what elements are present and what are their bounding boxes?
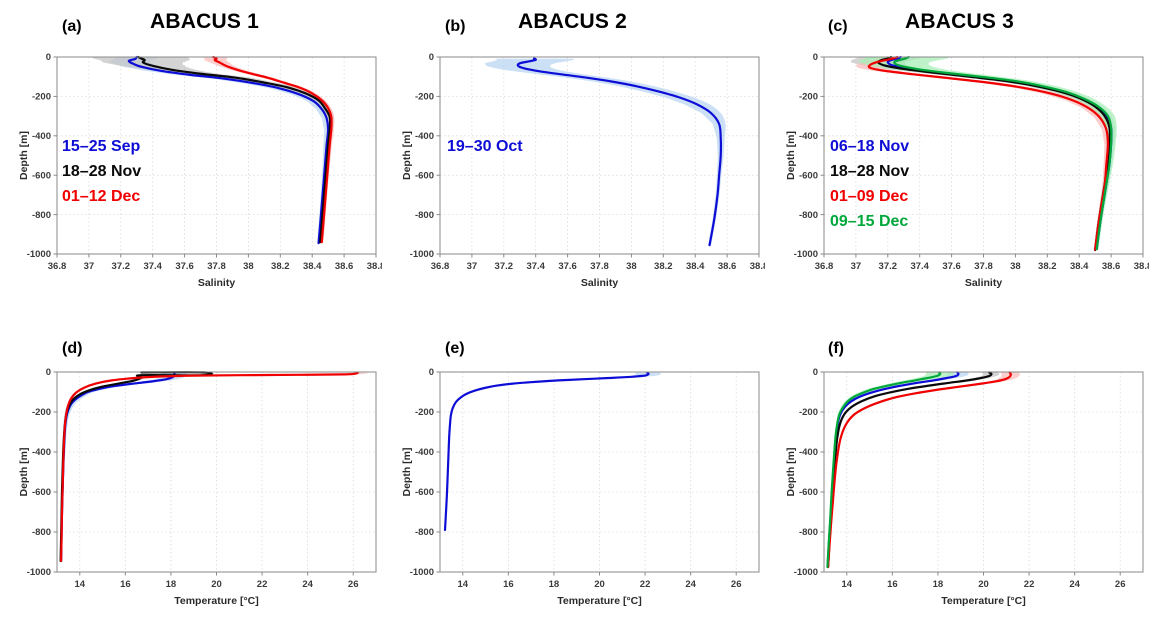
svg-text:36.8: 36.8 — [48, 261, 67, 272]
svg-text:20: 20 — [211, 579, 222, 590]
svg-text:38.4: 38.4 — [686, 261, 705, 272]
profile-lines — [827, 372, 1010, 567]
band-panel-f-2 — [828, 372, 1020, 567]
grid-lines — [440, 372, 759, 572]
x-axis: 36.83737.237.437.637.83838.238.438.638.8… — [815, 254, 1149, 289]
band-panel-e-0 — [445, 373, 662, 530]
svg-text:38.8: 38.8 — [750, 261, 765, 272]
svg-text:18: 18 — [933, 579, 944, 590]
band-panel-d-2 — [61, 373, 368, 561]
x-axis: 36.83737.237.437.637.83838.238.438.638.8… — [48, 254, 382, 289]
svg-text:-600: -600 — [799, 170, 818, 181]
panel-c-legend: 06–18 Nov18–28 Nov01–09 Dec09–15 Dec — [830, 134, 909, 234]
panel-b-tag: (b) — [445, 18, 465, 36]
svg-text:37.6: 37.6 — [175, 261, 194, 272]
legend-item: 18–28 Nov — [62, 159, 141, 184]
svg-text:37: 37 — [467, 261, 478, 272]
y-axis: 0-200-400-600-800-1000Depth [m] — [785, 367, 824, 578]
svg-text:-1000: -1000 — [27, 567, 51, 578]
x-axis: 14161820222426Temperature [°C] — [457, 572, 741, 607]
legend-item: 15–25 Sep — [62, 134, 141, 159]
panel-d: 14161820222426Temperature [°C]0-200-400-… — [17, 366, 382, 616]
y-axis-title: Depth [m] — [401, 448, 413, 497]
profile-panel-f-2 — [828, 372, 1011, 567]
profile-panel-d-1 — [61, 372, 212, 561]
svg-text:38: 38 — [626, 261, 637, 272]
svg-text:37: 37 — [84, 261, 95, 272]
panel-b: 36.83737.237.437.637.83838.238.438.638.8… — [400, 51, 765, 298]
svg-text:38: 38 — [243, 261, 254, 272]
legend-item: 18–28 Nov — [830, 159, 909, 184]
svg-text:-1000: -1000 — [27, 249, 51, 260]
profile-panel-c-0 — [888, 57, 1112, 249]
x-axis-title: Temperature [°C] — [174, 595, 259, 607]
svg-text:20: 20 — [978, 579, 989, 590]
svg-text:36.8: 36.8 — [815, 261, 834, 272]
y-axis-title: Depth [m] — [18, 131, 30, 180]
svg-text:26: 26 — [1115, 579, 1126, 590]
y-axis: 0-200-400-600-800-1000Depth [m] — [785, 52, 824, 260]
grid-lines — [57, 372, 376, 572]
x-axis-title: Temperature [°C] — [557, 595, 642, 607]
y-axis: 0-200-400-600-800-1000Depth [m] — [401, 367, 440, 578]
svg-text:-400: -400 — [32, 447, 51, 458]
svg-text:38.2: 38.2 — [271, 261, 290, 272]
panel-a-legend: 15–25 Sep18–28 Nov01–12 Dec — [62, 134, 141, 209]
uncertainty-bands — [445, 373, 662, 530]
svg-text:-600: -600 — [415, 170, 434, 181]
svg-text:37: 37 — [851, 261, 862, 272]
y-axis-title: Depth [m] — [785, 448, 797, 497]
panel-e: 14161820222426Temperature [°C]0-200-400-… — [400, 366, 765, 616]
panel-a-title: ABACUS 1 — [150, 10, 259, 34]
panel-f: 14161820222426Temperature [°C]0-200-400-… — [784, 366, 1149, 616]
svg-text:14: 14 — [74, 579, 85, 590]
svg-text:0: 0 — [813, 367, 818, 378]
grid-lines — [824, 372, 1143, 572]
panel-b-title: ABACUS 2 — [518, 10, 627, 34]
svg-text:-800: -800 — [799, 210, 818, 221]
svg-text:24: 24 — [1069, 579, 1080, 590]
svg-text:0: 0 — [813, 52, 818, 63]
svg-text:16: 16 — [120, 579, 131, 590]
x-axis-title: Salinity — [581, 277, 619, 289]
svg-text:37.8: 37.8 — [207, 261, 226, 272]
svg-text:-200: -200 — [415, 92, 434, 103]
svg-text:-600: -600 — [32, 487, 51, 498]
svg-text:16: 16 — [887, 579, 898, 590]
y-axis: 0-200-400-600-800-1000Depth [m] — [18, 52, 57, 260]
uncertainty-bands — [60, 372, 368, 561]
svg-text:38.6: 38.6 — [1102, 261, 1121, 272]
svg-text:36.8: 36.8 — [431, 261, 450, 272]
band-panel-a-0 — [108, 57, 332, 243]
y-axis-title: Depth [m] — [18, 448, 30, 497]
svg-text:38.4: 38.4 — [1070, 261, 1089, 272]
legend-item: 06–18 Nov — [830, 134, 909, 159]
svg-text:16: 16 — [503, 579, 514, 590]
svg-text:37.4: 37.4 — [910, 261, 929, 272]
svg-text:-1000: -1000 — [794, 567, 818, 578]
svg-text:-400: -400 — [799, 447, 818, 458]
svg-text:37.8: 37.8 — [974, 261, 993, 272]
panel-c-title: ABACUS 3 — [905, 10, 1014, 34]
profile-lines — [61, 372, 358, 561]
x-axis: 36.83737.237.437.637.83838.238.438.638.8… — [431, 254, 765, 289]
band-panel-d-1 — [60, 372, 214, 561]
profile-lines — [445, 373, 649, 530]
svg-text:-800: -800 — [32, 210, 51, 221]
svg-text:37.8: 37.8 — [590, 261, 609, 272]
svg-text:22: 22 — [640, 579, 651, 590]
svg-text:-400: -400 — [415, 447, 434, 458]
profile-panel-b-0 — [518, 59, 721, 246]
svg-text:38: 38 — [1010, 261, 1021, 272]
panel-b-legend: 19–30 Oct — [447, 134, 523, 159]
svg-text:-200: -200 — [799, 407, 818, 418]
profile-panel-c-1 — [878, 57, 1110, 250]
legend-item: 01–12 Dec — [62, 184, 141, 209]
svg-text:0: 0 — [46, 52, 51, 63]
svg-text:37.4: 37.4 — [526, 261, 545, 272]
svg-text:14: 14 — [841, 579, 852, 590]
svg-text:0: 0 — [429, 367, 434, 378]
y-axis-title: Depth [m] — [401, 131, 413, 180]
profile-lines — [518, 59, 721, 246]
svg-text:22: 22 — [257, 579, 268, 590]
svg-text:18: 18 — [549, 579, 560, 590]
svg-text:38.6: 38.6 — [718, 261, 737, 272]
profile-panel-a-0 — [129, 57, 328, 243]
svg-text:24: 24 — [302, 579, 313, 590]
x-axis-title: Temperature [°C] — [941, 595, 1026, 607]
y-axis: 0-200-400-600-800-1000Depth [m] — [18, 367, 57, 578]
x-axis-title: Salinity — [198, 277, 236, 289]
svg-text:-1000: -1000 — [410, 567, 434, 578]
svg-text:37.4: 37.4 — [143, 261, 162, 272]
svg-text:-600: -600 — [32, 170, 51, 181]
svg-text:37.2: 37.2 — [879, 261, 898, 272]
svg-text:-400: -400 — [32, 131, 51, 142]
svg-text:26: 26 — [731, 579, 742, 590]
svg-text:-800: -800 — [799, 527, 818, 538]
svg-text:37.2: 37.2 — [112, 261, 131, 272]
svg-text:37.6: 37.6 — [942, 261, 961, 272]
profile-panel-e-0 — [445, 373, 649, 530]
svg-text:24: 24 — [685, 579, 696, 590]
svg-text:-600: -600 — [799, 487, 818, 498]
y-axis: 0-200-400-600-800-1000Depth [m] — [401, 52, 440, 260]
figure-container: 36.83737.237.437.637.83838.238.438.638.8… — [0, 0, 1162, 620]
x-axis: 14161820222426Temperature [°C] — [74, 572, 358, 607]
panel-a-tag: (a) — [62, 18, 82, 36]
svg-text:0: 0 — [429, 52, 434, 63]
legend-item: 19–30 Oct — [447, 134, 523, 159]
y-axis-title: Depth [m] — [785, 131, 797, 180]
svg-text:-600: -600 — [415, 487, 434, 498]
svg-text:38.8: 38.8 — [367, 261, 382, 272]
svg-text:38.2: 38.2 — [654, 261, 673, 272]
svg-text:-800: -800 — [415, 210, 434, 221]
panel-c-tag: (c) — [828, 18, 848, 36]
svg-text:-800: -800 — [32, 527, 51, 538]
svg-text:38.4: 38.4 — [303, 261, 322, 272]
svg-text:38.2: 38.2 — [1038, 261, 1057, 272]
svg-text:-200: -200 — [415, 407, 434, 418]
svg-text:-200: -200 — [799, 92, 818, 103]
svg-text:37.6: 37.6 — [558, 261, 577, 272]
svg-text:-400: -400 — [415, 131, 434, 142]
svg-text:38.6: 38.6 — [335, 261, 354, 272]
svg-text:14: 14 — [457, 579, 468, 590]
svg-text:37.2: 37.2 — [495, 261, 514, 272]
x-axis: 14161820222426Temperature [°C] — [841, 572, 1125, 607]
svg-text:-1000: -1000 — [410, 249, 434, 260]
svg-text:-200: -200 — [32, 92, 51, 103]
svg-text:0: 0 — [46, 367, 51, 378]
svg-text:-400: -400 — [799, 131, 818, 142]
svg-text:26: 26 — [348, 579, 359, 590]
svg-text:-800: -800 — [415, 527, 434, 538]
uncertainty-bands — [827, 372, 1020, 567]
panel-f-tag: (f) — [828, 340, 844, 358]
svg-text:-1000: -1000 — [794, 249, 818, 260]
panel-e-tag: (e) — [445, 340, 465, 358]
panel-d-tag: (d) — [62, 340, 82, 358]
legend-item: 01–09 Dec — [830, 184, 909, 209]
svg-text:38.8: 38.8 — [1134, 261, 1149, 272]
svg-text:-200: -200 — [32, 407, 51, 418]
profile-lines — [129, 57, 332, 243]
svg-text:20: 20 — [594, 579, 605, 590]
x-axis-title: Salinity — [965, 277, 1003, 289]
svg-text:18: 18 — [166, 579, 177, 590]
legend-item: 09–15 Dec — [830, 209, 909, 234]
svg-text:22: 22 — [1024, 579, 1035, 590]
profile-panel-d-2 — [61, 373, 358, 561]
